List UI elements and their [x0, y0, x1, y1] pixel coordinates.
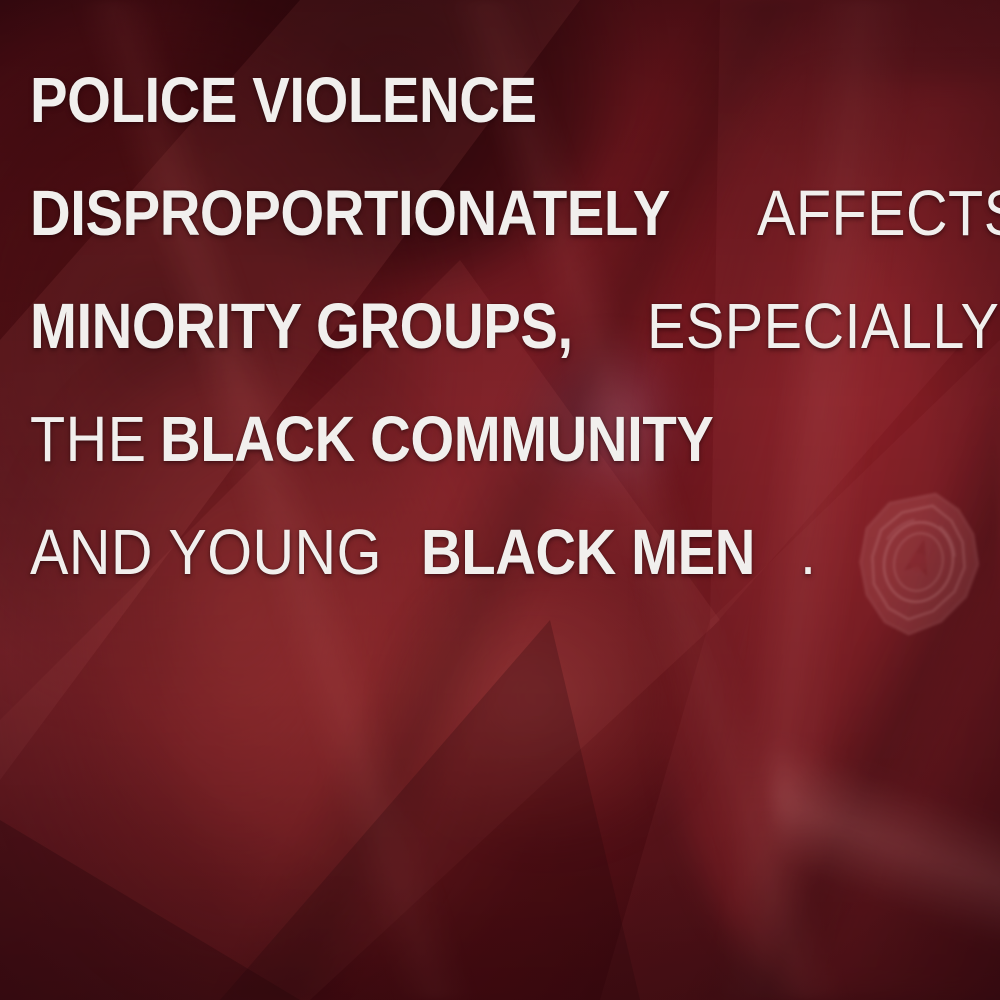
headline-line-2-segment-2: AFFECTS	[757, 157, 1000, 270]
headline-line-3: MINORITY GROUPS, ESPECIALLY	[30, 270, 974, 383]
headline-line-2-segment-1: DISPROPORTIONATELY	[30, 157, 670, 270]
headline-block: POLICE VIOLENCE DISPROPORTIONATELY AFFEC…	[30, 44, 974, 609]
headline-line-5-segment-3: .	[800, 496, 816, 609]
headline-line-3-segment-1: MINORITY GROUPS,	[30, 270, 573, 383]
headline-line-3-segment-2: ESPECIALLY	[647, 270, 999, 383]
headline-line-5-segment-2: BLACK MEN	[421, 496, 755, 609]
headline-line-4: THE BLACK COMMUNITY	[30, 383, 974, 496]
headline-line-4-segment-2: BLACK COMMUNITY	[160, 383, 713, 496]
headline-line-1-segment-1: POLICE VIOLENCE	[30, 44, 537, 157]
headline-line-5: AND YOUNG BLACK MEN.	[30, 496, 974, 609]
headline-line-2: DISPROPORTIONATELY AFFECTS	[30, 157, 974, 270]
poster-canvas: POLICE VIOLENCE DISPROPORTIONATELY AFFEC…	[0, 0, 1000, 1000]
headline-line-5-segment-1: AND YOUNG	[30, 496, 382, 609]
headline-line-4-segment-1: THE	[30, 383, 147, 496]
headline-line-1: POLICE VIOLENCE	[30, 44, 974, 157]
